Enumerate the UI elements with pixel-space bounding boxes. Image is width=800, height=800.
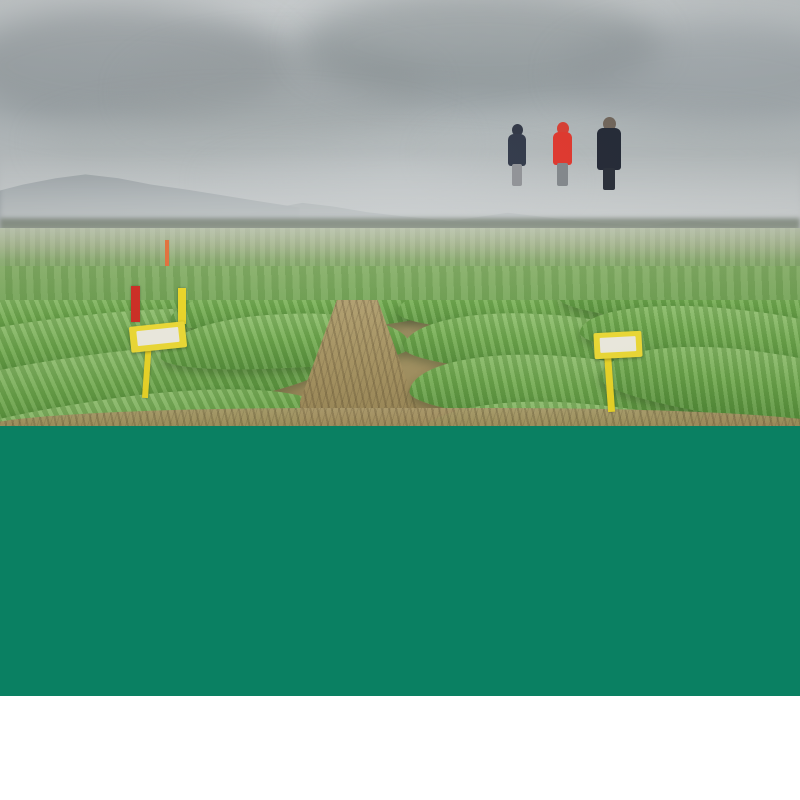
person-navy-jacket — [506, 124, 528, 186]
orange-stake-far — [165, 240, 169, 266]
person-legs — [557, 163, 568, 186]
person-dark-coat — [596, 117, 624, 190]
trial-plot-rows — [0, 300, 800, 426]
red-stake — [131, 286, 140, 322]
person-torso — [553, 132, 572, 165]
social-graphic-card: Lentils on challenging soils 2025 trial … — [0, 0, 800, 800]
person-legs — [603, 168, 615, 190]
plot-marker-left — [128, 322, 190, 396]
person-red-hoodie — [551, 122, 575, 186]
plot-marker-right — [586, 330, 646, 408]
person-torso — [597, 128, 621, 170]
green-content-band: Lentils on challenging soils 2025 trial … — [0, 426, 800, 696]
person-torso — [508, 134, 526, 166]
footer: AIR EP Ag Innovation & Research Eyre Pen… — [0, 696, 800, 800]
hero-photo — [0, 0, 800, 426]
yellow-stake — [178, 288, 186, 324]
person-legs — [512, 164, 522, 186]
